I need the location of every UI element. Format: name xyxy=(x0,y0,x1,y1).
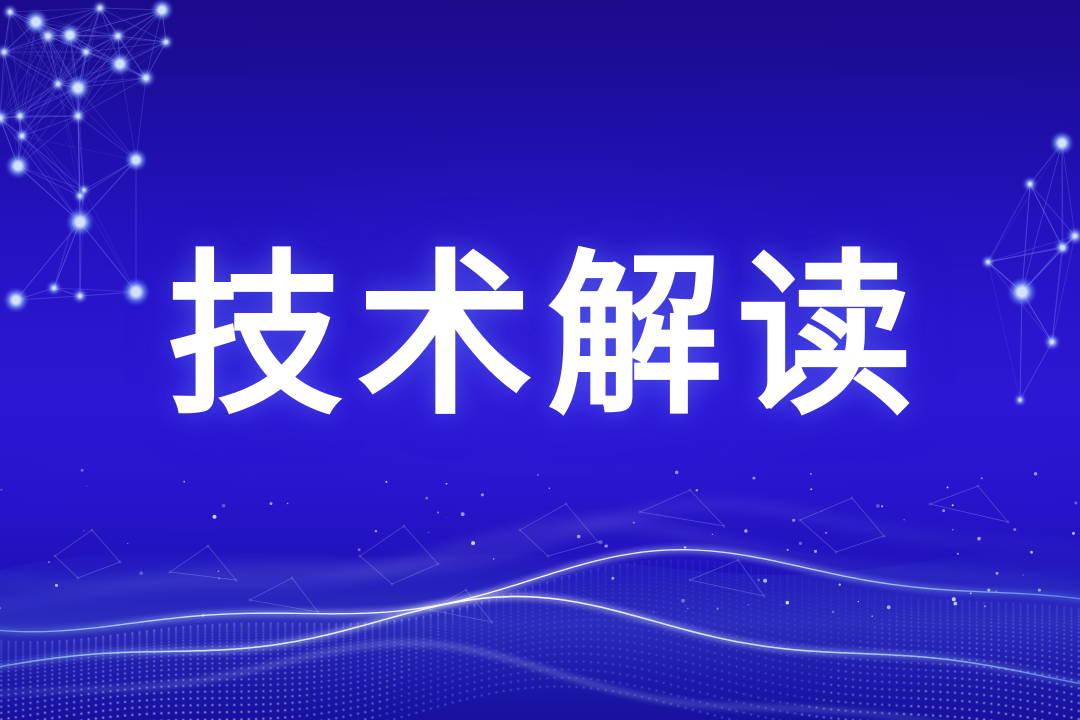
page-title: 技术解读 xyxy=(153,247,927,427)
banner-title-container: 技术解读 xyxy=(0,247,1080,427)
tech-banner: 技术解读 xyxy=(0,0,1080,720)
